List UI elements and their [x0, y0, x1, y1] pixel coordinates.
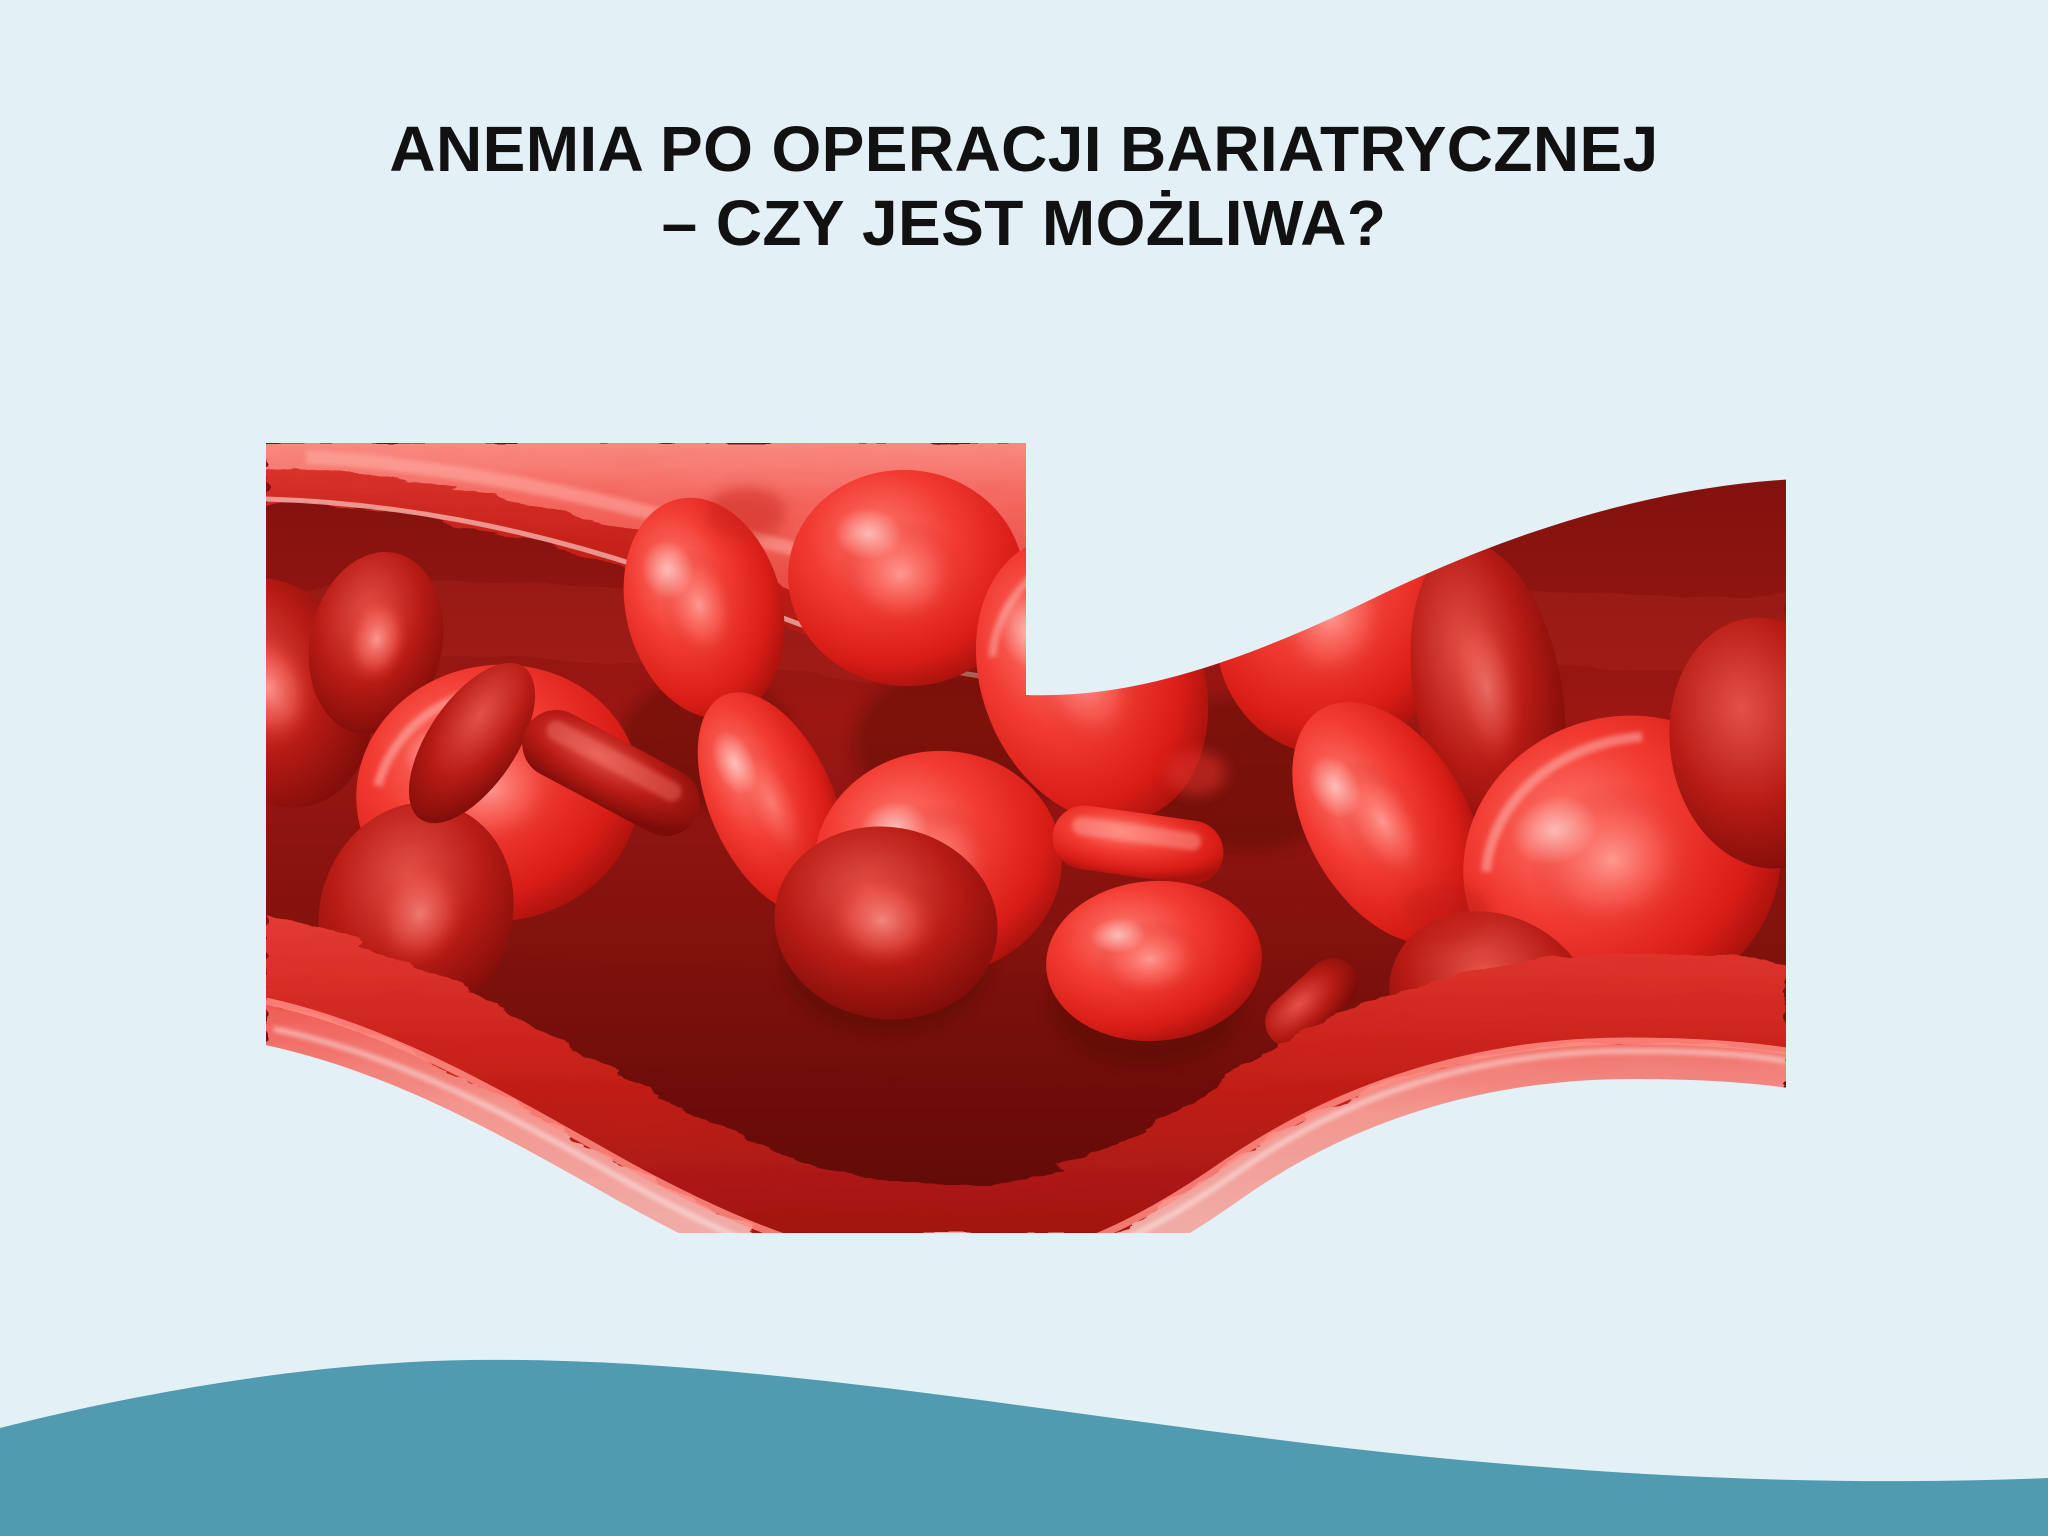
title-line-2: – CZY JEST MOŻLIWA?: [0, 186, 2048, 260]
rbc: [706, 487, 786, 539]
rbc: [1402, 883, 1490, 943]
blood-vessel-svg: [266, 443, 1786, 1233]
poster-canvas: ANEMIA PO OPERACJI BARIATRYCZNEJ – CZY J…: [0, 0, 2048, 1536]
title-line-1: ANEMIA PO OPERACJI BARIATRYCZNEJ: [0, 112, 2048, 186]
vessel-scene: [266, 443, 1786, 1233]
bottom-wave-svg: [0, 1336, 2048, 1536]
page-title: ANEMIA PO OPERACJI BARIATRYCZNEJ – CZY J…: [0, 112, 2048, 260]
rbc: [1166, 751, 1226, 795]
bottom-wave-decoration: [0, 1336, 2048, 1536]
blood-vessel-illustration: [266, 443, 1786, 1233]
wave-shape: [0, 1360, 2048, 1536]
